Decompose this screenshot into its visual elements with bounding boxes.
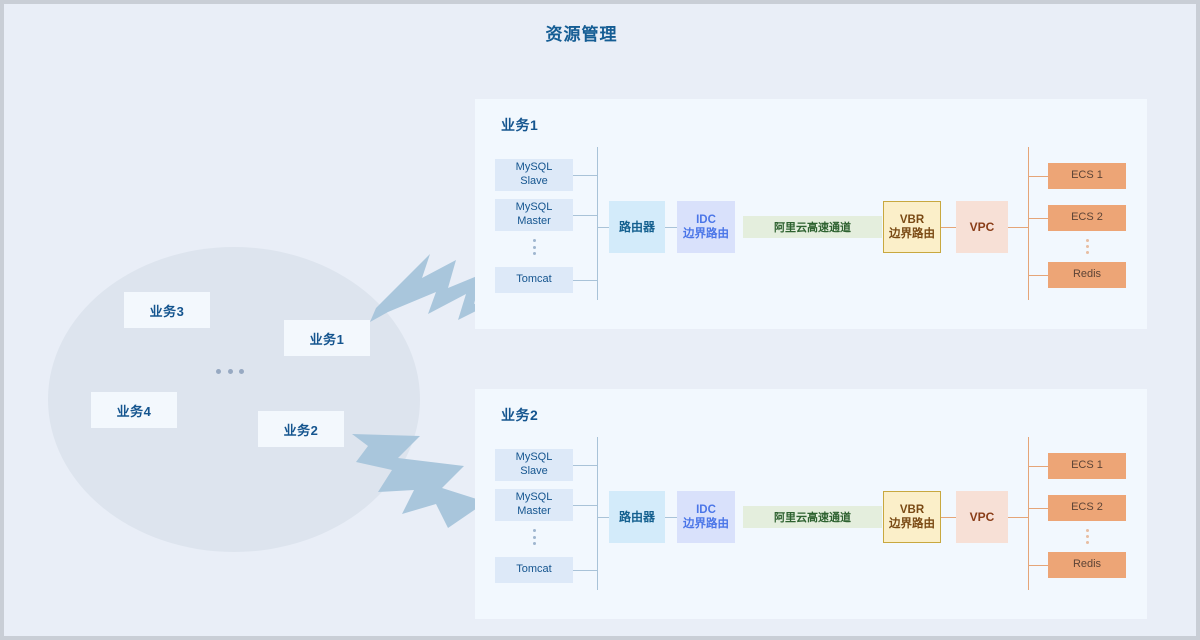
- target-branch-line: [1028, 565, 1048, 566]
- node-label-line1: IDC: [696, 503, 716, 517]
- node-label: Redis: [1073, 558, 1101, 572]
- node-router[interactable]: 路由器: [609, 491, 665, 543]
- node-tomcat[interactable]: Tomcat: [495, 267, 573, 293]
- target-ellipsis-icon: [1085, 529, 1089, 544]
- node-redis[interactable]: Redis: [1048, 552, 1126, 578]
- node-vbr-border-router[interactable]: VBR 边界路由: [883, 491, 941, 543]
- node-vpc[interactable]: VPC: [956, 491, 1008, 543]
- node-mysql-master[interactable]: MySQL Master: [495, 199, 573, 231]
- source-ellipsis-icon: [532, 239, 536, 255]
- node-ecs-2[interactable]: ECS 2: [1048, 205, 1126, 231]
- target-branch-line: [1028, 275, 1048, 276]
- target-branch-line: [1028, 508, 1048, 509]
- business-chip-2[interactable]: 业务2: [258, 411, 344, 447]
- page-title: 资源管理: [4, 20, 1159, 45]
- channel-label: 阿里云高速通道: [774, 509, 851, 525]
- express-connect-channel[interactable]: 阿里云高速通道: [743, 506, 882, 528]
- trunk-to-router-line: [597, 227, 609, 228]
- source-branch-line: [573, 505, 597, 506]
- business-panel-1: 业务1 MySQL Slave MySQL Master Tomcat: [475, 99, 1147, 329]
- node-router[interactable]: 路由器: [609, 201, 665, 253]
- bolt-arrow-lower-icon: [352, 432, 488, 530]
- node-label-line2: Slave: [520, 465, 548, 479]
- node-ecs-1[interactable]: ECS 1: [1048, 163, 1126, 189]
- node-ecs-1[interactable]: ECS 1: [1048, 453, 1126, 479]
- business-chip-label: 业务3: [150, 301, 185, 320]
- business-panel-2: 业务2 MySQL Slave MySQL Master Tomcat 路: [475, 389, 1147, 619]
- node-label: VPC: [970, 510, 995, 525]
- target-branch-line: [1028, 466, 1048, 467]
- node-label: ECS 2: [1071, 211, 1103, 225]
- node-label: 路由器: [619, 220, 655, 235]
- node-label-line1: MySQL: [516, 201, 553, 215]
- trunk-to-router-line: [597, 517, 609, 518]
- router-to-idc-line: [665, 517, 677, 518]
- express-connect-channel[interactable]: 阿里云高速通道: [743, 216, 882, 238]
- target-branch-line: [1028, 218, 1048, 219]
- node-label-line2: Master: [517, 505, 551, 519]
- node-label-line1: MySQL: [516, 161, 553, 175]
- node-label: ECS 2: [1071, 501, 1103, 515]
- node-label-line1: VBR: [900, 213, 924, 227]
- node-mysql-master[interactable]: MySQL Master: [495, 489, 573, 521]
- cloud-ellipsis-icon: [216, 364, 244, 378]
- node-label: VPC: [970, 220, 995, 235]
- panel-diagram: MySQL Slave MySQL Master Tomcat 路由器: [475, 99, 1147, 329]
- source-branch-line: [573, 570, 597, 571]
- node-label-line2: 边界路由: [683, 517, 729, 531]
- target-trunk-line: [1028, 437, 1029, 590]
- node-label-line2: Slave: [520, 175, 548, 189]
- business-chip-label: 业务4: [117, 401, 152, 420]
- business-chip-label: 业务2: [284, 420, 319, 439]
- target-branch-line: [1028, 176, 1048, 177]
- node-vpc[interactable]: VPC: [956, 201, 1008, 253]
- node-label-line1: Tomcat: [516, 273, 551, 287]
- node-label-line1: Tomcat: [516, 563, 551, 577]
- node-tomcat[interactable]: Tomcat: [495, 557, 573, 583]
- node-mysql-slave[interactable]: MySQL Slave: [495, 449, 573, 481]
- panel-diagram: MySQL Slave MySQL Master Tomcat 路由器: [475, 389, 1147, 619]
- vpc-to-trunk-line: [1008, 227, 1028, 228]
- node-label-line2: 边界路由: [683, 227, 729, 241]
- target-ellipsis-icon: [1085, 239, 1089, 254]
- node-label-line1: IDC: [696, 213, 716, 227]
- node-label-line2: 边界路由: [889, 227, 935, 241]
- source-trunk-line: [597, 437, 598, 590]
- router-to-idc-line: [665, 227, 677, 228]
- business-chip-4[interactable]: 业务4: [91, 392, 177, 428]
- source-trunk-line: [597, 147, 598, 300]
- node-vbr-border-router[interactable]: VBR 边界路由: [883, 201, 941, 253]
- vpc-to-trunk-line: [1008, 517, 1028, 518]
- business-chip-1[interactable]: 业务1: [284, 320, 370, 356]
- node-label: 路由器: [619, 510, 655, 525]
- node-label-line1: MySQL: [516, 451, 553, 465]
- diagram-canvas: 资源管理 业务3 业务1 业务4 业务2 业务1 MySQL Slave MyS…: [4, 4, 1196, 636]
- business-chip-label: 业务1: [310, 329, 345, 348]
- target-trunk-line: [1028, 147, 1029, 300]
- channel-label: 阿里云高速通道: [774, 219, 851, 235]
- node-label-line1: VBR: [900, 503, 924, 517]
- node-mysql-slave[interactable]: MySQL Slave: [495, 159, 573, 191]
- vbr-to-vpc-line: [941, 227, 956, 228]
- node-label: ECS 1: [1071, 459, 1103, 473]
- node-redis[interactable]: Redis: [1048, 262, 1126, 288]
- node-label-line1: MySQL: [516, 491, 553, 505]
- node-idc-border-router[interactable]: IDC 边界路由: [677, 201, 735, 253]
- node-idc-border-router[interactable]: IDC 边界路由: [677, 491, 735, 543]
- node-label-line2: Master: [517, 215, 551, 229]
- node-label: Redis: [1073, 268, 1101, 282]
- source-ellipsis-icon: [532, 529, 536, 545]
- source-branch-line: [573, 215, 597, 216]
- business-chip-3[interactable]: 业务3: [124, 292, 210, 328]
- vbr-to-vpc-line: [941, 517, 956, 518]
- node-label: ECS 1: [1071, 169, 1103, 183]
- source-branch-line: [573, 465, 597, 466]
- source-branch-line: [573, 280, 597, 281]
- node-label-line2: 边界路由: [889, 517, 935, 531]
- source-branch-line: [573, 175, 597, 176]
- node-ecs-2[interactable]: ECS 2: [1048, 495, 1126, 521]
